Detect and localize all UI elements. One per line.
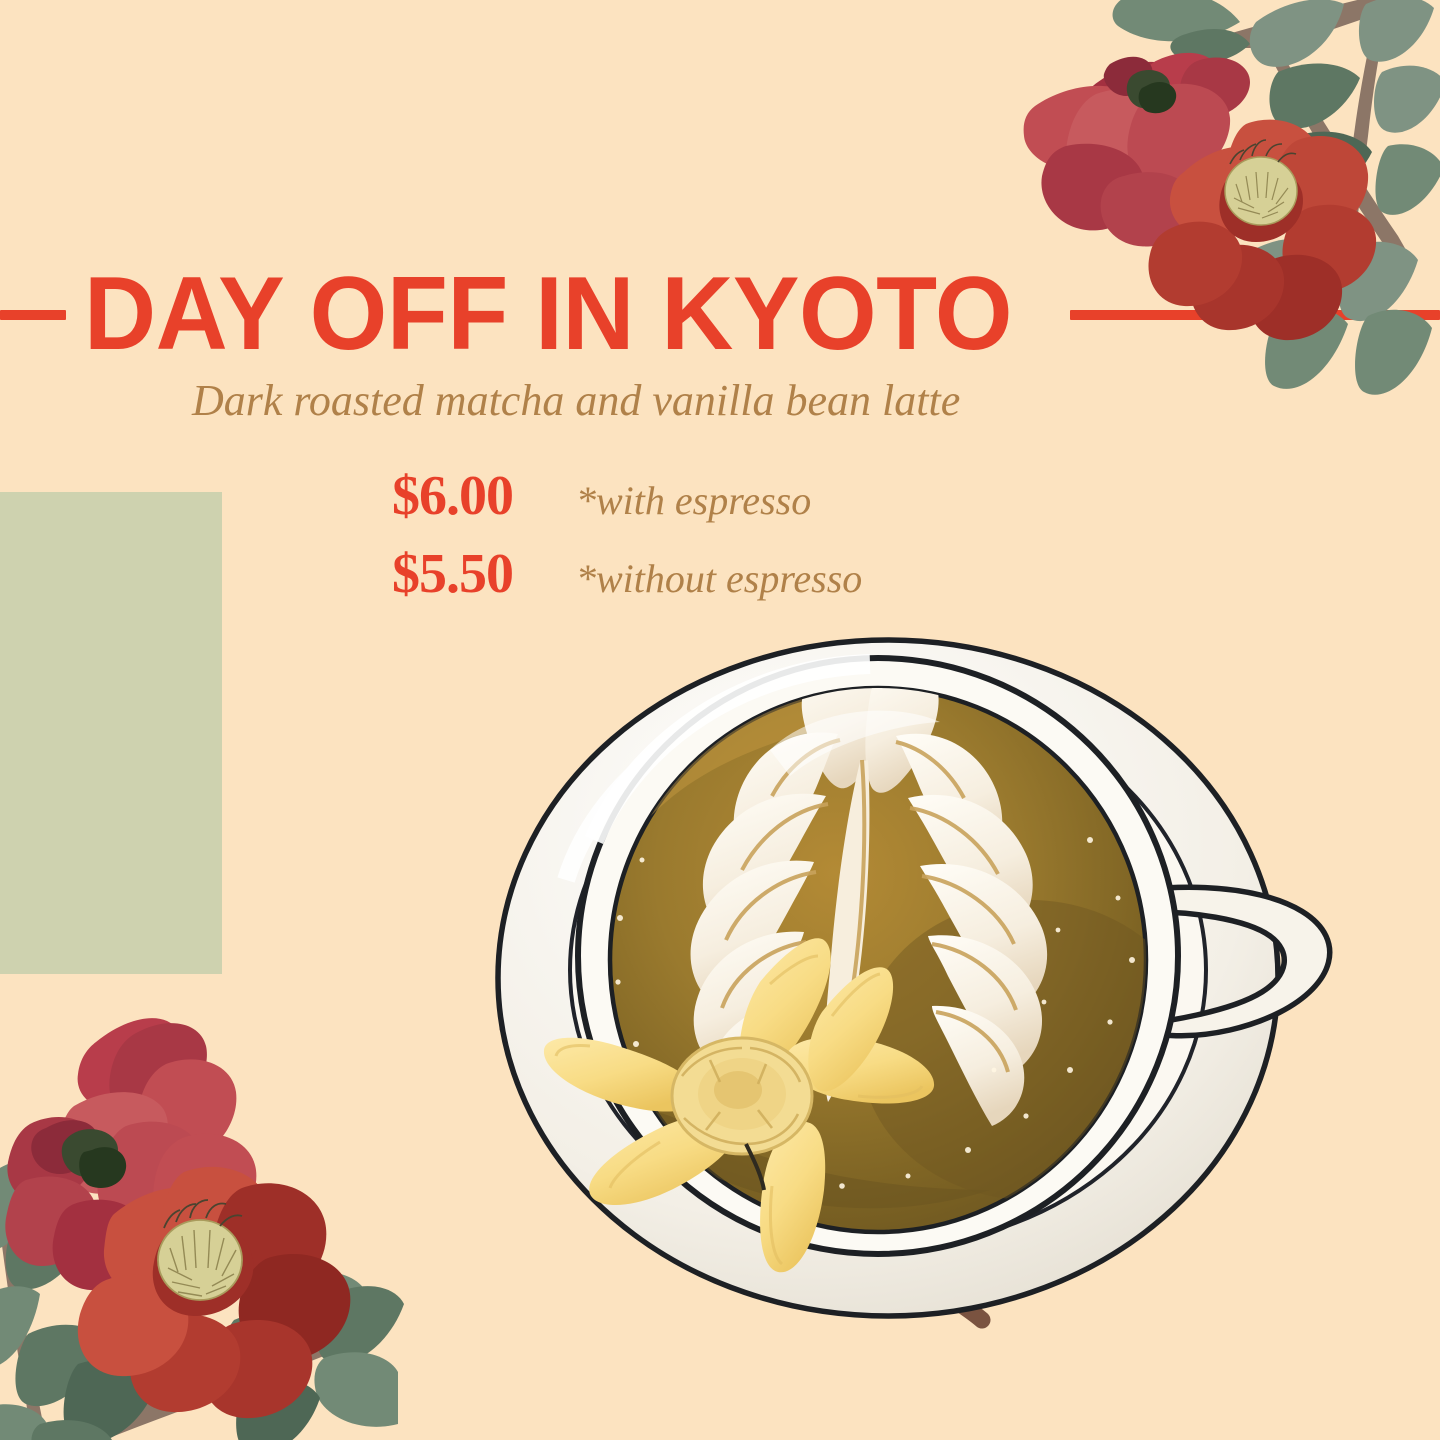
branch-leaves	[0, 1160, 404, 1440]
decorative-green-rectangle	[0, 492, 222, 974]
branch-stems	[0, 1180, 380, 1440]
page-title: DAY OFF IN KYOTO	[84, 262, 1025, 366]
camellia-branch-top-right-illustration	[978, 0, 1440, 416]
camellia-open-flower	[78, 1167, 351, 1418]
latte-cup-with-vanilla-illustration	[470, 630, 1370, 1360]
camellia-bud-flower	[5, 1018, 256, 1290]
price-list: $6.00 *with espresso $5.50 *without espr…	[392, 468, 862, 624]
camellia-bud-flower	[1024, 53, 1250, 247]
saucer	[498, 640, 1278, 1316]
vanilla-bean-pods	[508, 939, 1050, 1320]
camellia-open-flower	[1148, 120, 1376, 340]
cup-body	[578, 658, 1178, 1254]
cup-handle	[1130, 887, 1330, 1036]
price-amount: $6.00	[392, 468, 560, 524]
vanilla-flower	[544, 938, 934, 1272]
poster-canvas: DAY OFF IN KYOTO Dark roasted matcha and…	[0, 0, 1440, 1440]
price-row: $6.00 *with espresso	[392, 468, 862, 546]
camellia-branch-bottom-left-illustration	[0, 1028, 398, 1440]
price-note: *with espresso	[576, 481, 811, 521]
title-rule-left	[0, 310, 66, 320]
branch-leaves	[1113, 0, 1440, 395]
title-rule-right	[1070, 310, 1440, 320]
branch-stems	[1228, 0, 1436, 272]
price-amount: $5.50	[392, 546, 560, 602]
latte-art	[610, 661, 1200, 1208]
price-row: $5.50 *without espresso	[392, 546, 862, 624]
price-note: *without espresso	[576, 559, 862, 599]
page-subtitle: Dark roasted matcha and vanilla bean lat…	[192, 376, 960, 426]
